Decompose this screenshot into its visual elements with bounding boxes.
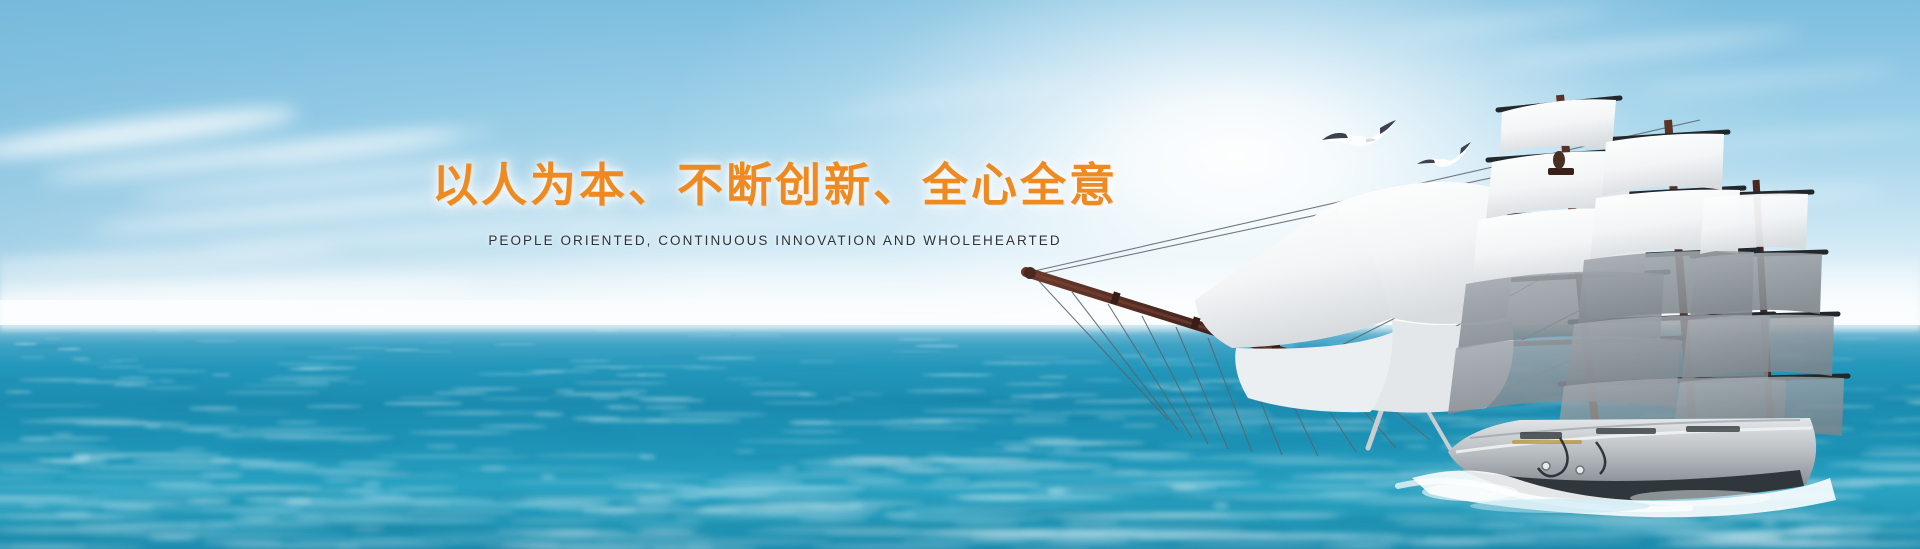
sails — [1195, 99, 1844, 446]
hero-banner: 以人为本、不断创新、全心全意 PEOPLE ORIENTED, CONTINUO… — [0, 0, 1920, 549]
banner-headline: 以人为本、不断创新、全心全意 — [200, 158, 1350, 213]
banner-subtitle: PEOPLE ORIENTED, CONTINUOUS INNOVATION A… — [200, 233, 1350, 248]
banner-text-block: 以人为本、不断创新、全心全意 PEOPLE ORIENTED, CONTINUO… — [200, 158, 1350, 248]
seagull-small-icon — [1414, 134, 1474, 176]
tall-ship — [0, 0, 1920, 549]
seagull-large-icon — [1318, 108, 1402, 164]
